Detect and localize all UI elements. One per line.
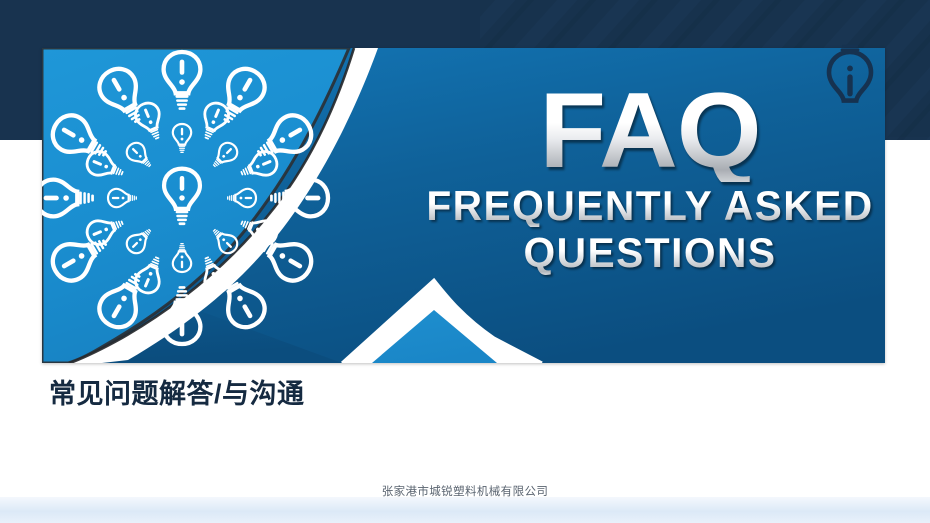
info-lightbulb-icon (822, 44, 878, 116)
bottom-gradient-strip (0, 497, 930, 523)
slide-caption: 常见问题解答/与沟通 (49, 372, 305, 411)
faq-slide: FAQ FREQUENTLY ASKED QUESTIONS 常见问题解答/与沟… (0, 0, 930, 523)
footer-company-name: 张家港市城锐塑料机械有限公司 (0, 483, 930, 499)
faq-banner-card (42, 48, 885, 363)
